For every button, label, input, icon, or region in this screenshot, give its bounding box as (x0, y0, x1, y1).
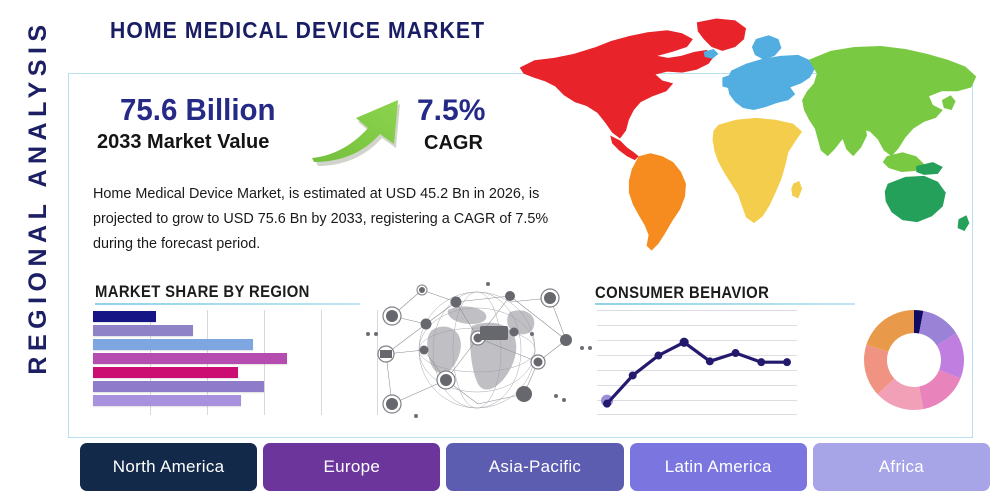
map-region-north-america (520, 30, 715, 138)
bar-6 (93, 395, 241, 406)
growth-arrow-icon (300, 88, 415, 166)
line-point-2 (654, 352, 662, 360)
map-region-africa (713, 118, 803, 223)
map-region-central-america (610, 136, 639, 161)
line-point-4 (706, 357, 714, 365)
bar-0 (93, 311, 156, 322)
globe-network-graphic (360, 276, 595, 424)
bar-row (93, 395, 241, 406)
region-tab-latin-america[interactable]: Latin America (630, 443, 807, 491)
line-point-1 (629, 371, 637, 379)
line-point-5 (732, 349, 740, 357)
market-share-bar-chart (93, 310, 378, 415)
bar-gridline (321, 310, 322, 415)
map-region-new-zealand (958, 215, 970, 231)
line-point-3 (680, 338, 689, 347)
bar-4 (93, 367, 238, 378)
kpi-row: 75.6 Billion 2033 Market Value 7.5% CAGR (95, 92, 515, 172)
consumer-behavior-donut-chart (862, 308, 966, 412)
line-point-6 (757, 358, 765, 366)
region-tab-label: Europe (323, 457, 380, 477)
market-value-figure: 75.6 Billion (120, 92, 275, 128)
section-header-consumer-behavior: CONSUMER BEHAVIOR (595, 284, 769, 303)
bar-1 (93, 325, 193, 336)
bar-row (93, 325, 193, 336)
bar-3 (93, 353, 287, 364)
map-region-india (840, 119, 867, 156)
section-header-market-share: MARKET SHARE BY REGION (95, 283, 310, 302)
line-point-7 (783, 358, 791, 366)
line-chart-series (597, 310, 797, 415)
map-region-australia (885, 176, 946, 222)
region-tab-label: Latin America (665, 457, 772, 477)
map-region-madagascar (791, 181, 802, 199)
cagr-label: CAGR (424, 132, 483, 155)
region-tab-label: North America (113, 457, 225, 477)
section-rule-consumer-behavior (595, 303, 855, 305)
page-title: HOME MEDICAL DEVICE MARKET (110, 17, 485, 44)
map-region-europe (727, 55, 815, 110)
line-point-0 (603, 400, 611, 408)
bar-row (93, 367, 238, 378)
bar-row (93, 381, 264, 392)
map-region-south-america (629, 153, 686, 250)
region-tab-north-america[interactable]: North America (80, 443, 257, 491)
map-region-scandinavia (752, 35, 782, 60)
market-description: Home Medical Device Market, is estimated… (93, 182, 585, 257)
bar-row (93, 353, 287, 364)
region-tab-asia-pacific[interactable]: Asia-Pacific (446, 443, 623, 491)
region-tab-label: Africa (879, 457, 924, 477)
region-tab-europe[interactable]: Europe (263, 443, 440, 491)
region-tab-label: Asia-Pacific (489, 457, 581, 477)
section-rule-market-share (95, 303, 360, 305)
bar-row (93, 339, 253, 350)
region-tab-africa[interactable]: Africa (813, 443, 990, 491)
vertical-section-label: REGIONAL ANALYSIS (18, 0, 58, 412)
market-value-label: 2033 Market Value (97, 131, 269, 154)
consumer-behavior-line-chart (597, 310, 797, 415)
donut-segment-6 (866, 310, 914, 352)
map-region-greenland (697, 18, 746, 50)
region-tabs-bar: North America Europe Asia-Pacific Latin … (80, 443, 990, 491)
cagr-figure: 7.5% (417, 94, 485, 128)
bar-5 (93, 381, 264, 392)
map-region-japan (942, 95, 956, 110)
bar-row (93, 311, 156, 322)
bar-2 (93, 339, 253, 350)
